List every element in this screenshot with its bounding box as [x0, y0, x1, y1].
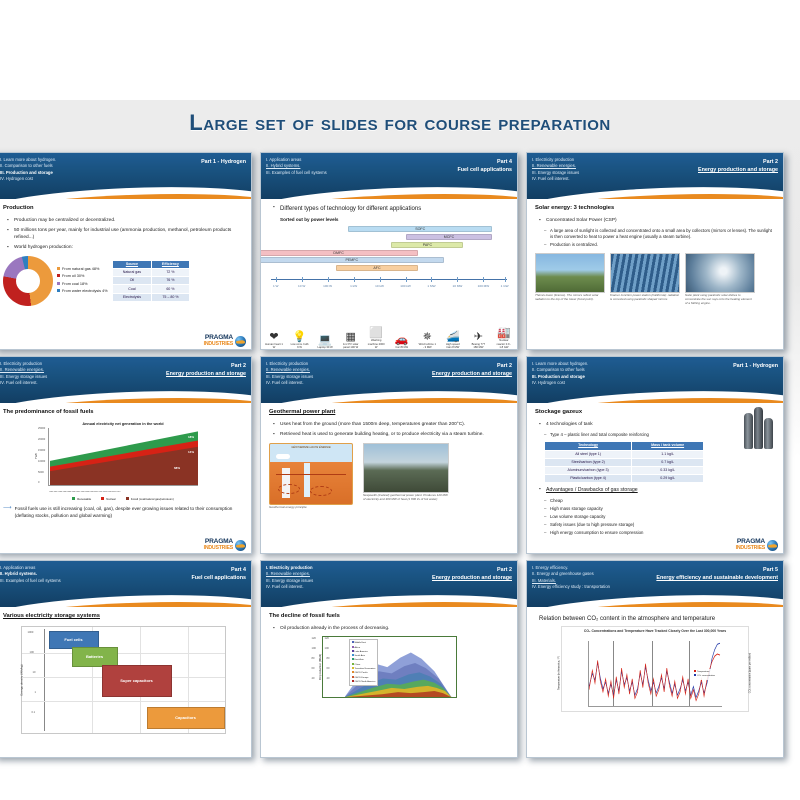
- table-cell: 1.1 kg/L: [632, 450, 704, 458]
- nav-item: II. Renewable energies.: [266, 367, 310, 372]
- part-line-2: Energy efficiency and sustainable develo…: [656, 574, 778, 582]
- table-cell: Aluminum/carbon (type 3): [545, 466, 632, 474]
- device-item: 💻Laptop 30 W: [316, 335, 334, 349]
- legend-label: From coal 18%: [62, 282, 88, 286]
- nav-item: III. Examples of fuel cell systems: [266, 170, 327, 176]
- nav-item-active: III. Production and storage: [532, 374, 585, 379]
- block-label: Capacitors: [175, 715, 196, 720]
- slide-nav: I. Electricity production II. Renewable …: [266, 565, 313, 590]
- sub-bullet-item: Type 4 – plastic liner and total composi…: [544, 432, 775, 438]
- axis-tick-label: 100 MW: [478, 284, 490, 288]
- slide-grid: I. Learn more about hydrogen. II. Compar…: [0, 152, 800, 764]
- y2-axis-label: CO₂ concentration (parts per million): [748, 653, 751, 693]
- y-tick: 25000: [38, 427, 45, 431]
- table-header: Source: [112, 260, 152, 268]
- legend-label: Nuclear: [106, 497, 116, 501]
- nav-item: III. Energy storage issues: [532, 170, 579, 176]
- y-axis-label: Energy density (Wh/kg): [19, 664, 23, 695]
- slide-part-label: Part 4 Fuel cell applications: [191, 566, 246, 582]
- table-cell: Steel/carbon (type 2): [545, 458, 632, 466]
- bar-dmfc: DMFC: [260, 250, 418, 256]
- device-label: Human heart 1 W: [265, 343, 283, 349]
- slide-nav: I. Learn more about hydrogen. II. Compar…: [0, 157, 56, 182]
- table-cell: 0.7 kg/L: [632, 458, 704, 466]
- chart-title: CO₂ Concentrations and Temperature Have …: [562, 627, 748, 634]
- part-line-1: Part 1 - Hydrogen: [733, 362, 778, 370]
- slide-header: I. Electricity production II. Renewable …: [0, 357, 251, 403]
- table-row: Steel/carbon (type 2) 0.7 kg/L: [545, 458, 704, 466]
- nav-item: II. Renewable energies.: [266, 571, 310, 576]
- chart-legend: Renewable Nuclear Fossil (coal/natural g…: [48, 497, 198, 502]
- slide-nav: I. Electricity production II. Renewable …: [532, 157, 579, 182]
- slide-row-2: I. Electricity production II. Renewable …: [0, 356, 800, 560]
- table-cell: 75 – 80 %: [152, 293, 189, 301]
- device-label: Wind turbine 1 - 3 MW: [419, 343, 436, 349]
- table-row: Coal 60 %: [112, 285, 189, 293]
- table-header: Mass / tank volume: [632, 442, 704, 450]
- slide-row-1: I. Learn more about hydrogen. II. Compar…: [0, 152, 800, 356]
- slide-part-label: Part 2 Energy production and storage: [432, 566, 512, 582]
- axis-tick-label: 1 GW: [501, 284, 509, 288]
- slide-body: Production Production may be centralized…: [0, 199, 251, 350]
- photo-caption: Solar plant using parabolic solar dishes…: [685, 294, 755, 306]
- bullet-list: Uses heat from the ground (more than 150…: [273, 422, 509, 439]
- bullet-list: Different types of technology for differ…: [273, 205, 509, 213]
- y-tick: 20000: [38, 438, 45, 442]
- gas-cylinders-image: [744, 407, 773, 449]
- x-tick-row: 1980 1982 1984 1986 1988 1990 1992 1994 …: [49, 491, 198, 494]
- chart-title: Annual electricity net generation in the…: [48, 422, 198, 427]
- pragma-logo: PRAGMA INDUSTRIES: [736, 539, 778, 551]
- part-line-2: Energy production and storage: [432, 370, 512, 378]
- slide-nav: I. Electricity production II. Renewable …: [266, 361, 313, 386]
- legend-label: OECD Pacific: [355, 672, 368, 674]
- photo-block: Kramer Junction power station (Californi…: [610, 253, 680, 306]
- slide-title: The decline of fossil fuels: [269, 613, 509, 621]
- slide-title: Solar energy: 3 technologies: [535, 205, 775, 213]
- sub-bullet-item: A large area of sunlight is collected an…: [544, 228, 775, 240]
- chart-legend: Middle East Africa Latin America South A…: [349, 639, 379, 686]
- advantage-item: High energy consumption to ensure compre…: [544, 530, 775, 536]
- solar-panel-icon: ▦: [342, 332, 360, 343]
- device-icon-row: ❤Human heart 1 W 💡Low cons. bulb 9 W 💻La…: [265, 315, 513, 349]
- y2-tick: 100: [312, 647, 466, 651]
- slide-header: I. Energy efficiency. II. Energy and gre…: [527, 561, 783, 607]
- page-title: Large set of slides for course preparati…: [0, 110, 800, 136]
- chart-legend: Temperature CO₂ concentration: [693, 669, 716, 680]
- device-label: 1m² PV solar panel 100 W: [343, 343, 359, 349]
- bullet-list: 4 technologies of tank: [539, 422, 775, 428]
- y-tick: 15000: [38, 449, 45, 453]
- slide-thumbnail-5[interactable]: I. Electricity production II. Renewable …: [260, 356, 518, 554]
- device-label: Laptop 30 W: [317, 346, 332, 349]
- legend-label: CO₂ concentration: [697, 675, 715, 677]
- laptop-icon: 💻: [316, 335, 334, 346]
- table-header: Efficiency: [152, 260, 189, 268]
- table-cell: 72 %: [152, 268, 189, 276]
- slide-body: The predominance of fossil fuels Annual …: [0, 403, 251, 554]
- device-label: Car 80 kW: [395, 346, 408, 349]
- device-item: 🏭Nuclear reactor 0.9 - 1.8 GW: [495, 328, 513, 349]
- nav-item: IV. Hydrogen cost: [532, 380, 588, 386]
- efficiency-table: Source Efficiency Natural gas 72 % Oil 7…: [112, 260, 190, 302]
- nav-item: III. Energy storage issues: [266, 374, 313, 380]
- bullet-list: Concentrated Solar Power (CSP): [539, 218, 775, 224]
- chart-plot: TWh 25000 20000 15000 10000 5000 0 18% 1…: [48, 428, 198, 486]
- part-line-2: Fuel cell applications: [457, 166, 512, 174]
- slide-header: I. Application areas II. Hybrid systems.…: [0, 561, 251, 607]
- legend-label: From water electrolysis 4%: [62, 289, 108, 293]
- nav-item: III. Materials.: [532, 578, 556, 583]
- car-icon: 🚗: [393, 335, 411, 346]
- slide-nav: I. Application areas II. Hybrid systems.…: [0, 565, 61, 584]
- part-line-1: Part 1 - Hydrogen: [201, 158, 246, 166]
- bullet-item: Oil production already in the process of…: [273, 626, 509, 632]
- hydrogen-production-donut-chart: [3, 256, 53, 306]
- bullet-item: 4 technologies of tank: [539, 422, 775, 428]
- slide-header: I. Application areas II. Hybrid systems.…: [261, 153, 517, 199]
- y-tick: 1000: [28, 631, 34, 635]
- table-cell: 76 %: [152, 277, 189, 285]
- parabolic-trough-photo: [610, 253, 680, 293]
- bullet-list: Production may be centralized or decentr…: [7, 218, 243, 252]
- slide-header: I. Learn more about hydrogen. II. Compar…: [0, 153, 251, 199]
- table-cell: Plastic/carbon (type 4): [545, 475, 632, 483]
- device-label: High speed train 8 MW: [446, 343, 460, 349]
- slide-title: Production: [3, 205, 243, 213]
- nav-item: IV. Fuel cell interest.: [0, 380, 47, 386]
- efficiency-table-wrap: Source Efficiency Natural gas 72 % Oil 7…: [112, 260, 190, 302]
- slide-nav: I. Energy efficiency. II. Energy and gre…: [532, 565, 610, 590]
- bar-label: MCFC: [444, 235, 454, 240]
- slide-body: Relation between CO₂ content in the atmo…: [527, 607, 783, 758]
- legend-label: Temperature: [697, 671, 709, 673]
- y2-tick: 120: [312, 637, 466, 641]
- bar-label: AFC: [373, 266, 380, 271]
- y-axis-label: Temperature (in Antarctica, °F): [557, 656, 560, 690]
- legend-label: Fossil (coal/natural gas/petroleum): [131, 497, 174, 501]
- nav-item: III. Energy storage issues: [266, 578, 313, 584]
- legend-label: Africa: [355, 647, 361, 649]
- axis-tick-label: 1 W: [273, 284, 279, 288]
- block-label: Fuel cells: [64, 637, 82, 642]
- table-cell: 0.29 kg/L: [632, 475, 704, 483]
- bar-afc: AFC: [336, 265, 418, 271]
- part-line-2: Energy production and storage: [432, 574, 512, 582]
- diagram-title: GÉOTHERMIE HAUTE ÉNERGIE: [270, 446, 352, 449]
- part-line-2: Energy production and storage: [698, 166, 778, 174]
- block-label: Batteries: [86, 654, 103, 659]
- axis-tick-label: 1 kW: [350, 284, 357, 288]
- device-item: 💡Low cons. bulb 9 W: [291, 332, 309, 349]
- part-line-2: Energy production and storage: [166, 370, 246, 378]
- solar-tower-photo: [535, 253, 605, 293]
- part-line-1: Part 2: [432, 566, 512, 574]
- legend-label: Transition Economies: [355, 668, 376, 670]
- table-cell: 60 %: [152, 285, 189, 293]
- legend-label: From oil 30%: [62, 274, 84, 278]
- diagram-caption: Geothermal energy principle: [269, 506, 353, 510]
- bullet-item: 50 millions tons per year, mainly for in…: [7, 228, 243, 241]
- pragma-logo: PRAGMA INDUSTRIES: [204, 539, 246, 551]
- slide-title: Geothermal power plant: [269, 409, 509, 417]
- bullet-list: Oil production already in the process of…: [273, 626, 509, 632]
- sub-bullet-list: Type 4 – plastic liner and total composi…: [544, 432, 775, 438]
- slide-thumbnail-1[interactable]: I. Learn more about hydrogen. II. Compar…: [0, 152, 252, 350]
- device-item: 🚄High speed train 8 MW: [444, 332, 462, 349]
- photo-caption: Nesjavellir (Iceland) geothermal power p…: [363, 494, 449, 502]
- nav-item: IV. Hydrogen cost: [0, 176, 56, 182]
- legend-label: OECD North America: [355, 681, 376, 683]
- slide-title: Different types of technology for differ…: [273, 205, 509, 213]
- slide-part-label: Part 4 Fuel cell applications: [457, 158, 512, 174]
- data-label-fossil: 68%: [174, 466, 180, 470]
- advantage-item: High mass storage capacity: [544, 506, 775, 512]
- bar-sofc: SOFC: [348, 226, 492, 232]
- heart-icon: ❤: [265, 332, 283, 343]
- arrow-icon: ⟶: [3, 505, 12, 519]
- table-cell: Coal: [112, 285, 152, 293]
- table-cell: Natural gas: [112, 268, 152, 276]
- table-cell: All steel (type 1): [545, 450, 632, 458]
- device-item: ✈Boeing 777 180 MW: [469, 332, 487, 349]
- slide-part-label: Part 2 Energy production and storage: [166, 362, 246, 378]
- part-line-1: Part 2: [698, 158, 778, 166]
- fuel-cell-power-bar-chart: SOFC MCFC PAFC DMFC PEMFC AFC 1 W 10 W 1…: [269, 226, 509, 272]
- nav-item-active: II. Hybrid systems.: [266, 163, 300, 168]
- slide-part-label: Part 1 - Hydrogen: [201, 158, 246, 166]
- legend-label: From natural gas 48%: [62, 267, 99, 271]
- slide-thumbnail-6[interactable]: I. Learn more about hydrogen. II. Compar…: [526, 356, 784, 554]
- y-tick: 0: [38, 481, 39, 485]
- electricity-generation-area-chart: Annual electricity net generation in the…: [48, 422, 198, 496]
- slide-part-label: Part 5 Energy efficiency and sustainable…: [656, 566, 778, 582]
- slide-nav: I. Application areas II. Hybrid systems.…: [266, 157, 327, 176]
- wind-turbine-icon: ✵: [418, 332, 436, 343]
- slide-thumbnail-4[interactable]: I. Electricity production II. Renewable …: [0, 356, 252, 554]
- legend-label: OECD Europe: [355, 677, 369, 679]
- table-row: All steel (type 1) 1.1 kg/L: [545, 450, 704, 458]
- slide-thumbnail-8[interactable]: I. Electricity production II. Renewable …: [260, 560, 518, 758]
- nav-item: III. Energy storage issues: [0, 374, 47, 380]
- slide-thumbnail-7[interactable]: I. Application areas II. Hybrid systems.…: [0, 560, 252, 758]
- slide-body: Various electricity storage systems 1000…: [0, 607, 251, 758]
- device-item: ⬜Washing machine 2000 W: [367, 328, 385, 349]
- airplane-icon: ✈: [469, 332, 487, 343]
- nuclear-plant-icon: 🏭: [495, 328, 513, 339]
- part-line-1: Part 2: [432, 362, 512, 370]
- part-line-1: Part 4: [191, 566, 246, 574]
- y-tick: 10000: [38, 460, 45, 464]
- table-cell: Oil: [112, 277, 152, 285]
- slide-part-label: Part 2 Energy production and storage: [432, 362, 512, 378]
- block-label: Super capacitors: [120, 678, 152, 683]
- table-row: Plastic/carbon (type 4) 0.29 kg/L: [545, 475, 704, 483]
- slide-header: I. Electricity production II. Renewable …: [527, 153, 783, 199]
- photo-caption: Thémis tower (France). The mirrors refle…: [535, 294, 605, 302]
- brand-subtitle: INDUSTRIES: [204, 342, 233, 347]
- bar-label: PAFC: [423, 243, 432, 248]
- nav-item: IV. Fuel cell interest.: [266, 584, 313, 590]
- nav-item: II. Renewable energies.: [532, 163, 576, 168]
- data-label-nuclear: 14%: [188, 450, 194, 454]
- slide-header: I. Electricity production II. Renewable …: [261, 561, 517, 607]
- advantage-item: Cheap: [544, 498, 775, 504]
- bullet-item: Concentrated Solar Power (CSP): [539, 218, 775, 224]
- sub-bullet-item: Production is centralized.: [544, 242, 775, 248]
- washing-machine-icon: ⬜: [367, 328, 385, 339]
- y-axis-label: TWh: [34, 453, 38, 459]
- advantage-item: Safety issues (due to high pressure stor…: [544, 522, 775, 528]
- slide-part-label: Part 2 Energy production and storage: [698, 158, 778, 174]
- table-cell: Electrolysis: [112, 293, 152, 301]
- diagram-block: GÉOTHERMIE HAUTE ÉNERGIE Geothermal ener…: [269, 443, 353, 510]
- slide-body: The decline of fossil fuels Oil producti…: [261, 607, 517, 758]
- y-tick: 1: [35, 691, 36, 695]
- oil-production-area-chart: Oil production (Mb/d) 120 100 80 60 40 1…: [322, 636, 457, 698]
- pragma-logo: PRAGMA INDUSTRIES: [204, 335, 246, 347]
- bullet-item: Uses heat from the ground (more than 150…: [273, 422, 509, 428]
- slide-thumbnail-2[interactable]: I. Application areas II. Hybrid systems.…: [260, 152, 518, 350]
- table-row: Natural gas 72 %: [112, 268, 189, 276]
- legend-label: Renewable: [77, 497, 91, 501]
- tank-table-wrap: Technology Mass / tank volume All steel …: [544, 441, 704, 483]
- logo-sphere-icon: [235, 336, 246, 347]
- bar-mcfc: MCFC: [406, 234, 492, 240]
- advantage-items: Cheap High mass storage capacity Low vol…: [544, 498, 775, 535]
- bar-label: DMFC: [333, 251, 343, 256]
- axis-tick-label: 100 kW: [400, 284, 411, 288]
- axis-tick-label: 1 MW: [427, 284, 435, 288]
- legend-label: South Asia: [355, 655, 365, 657]
- slide-body: Different types of technology for differ…: [261, 199, 517, 350]
- y2-tick: 80: [312, 657, 464, 661]
- block-batteries: Batteries: [72, 647, 118, 667]
- part-line-2: Fuel cell applications: [191, 574, 246, 582]
- train-icon: 🚄: [444, 332, 462, 343]
- device-label: Nuclear reactor 0.9 - 1.8 GW: [497, 339, 512, 348]
- advantages-list: Advantages / Drawbacks of gas storage: [539, 487, 775, 494]
- table-header: Technology: [545, 442, 632, 450]
- brand-subtitle: INDUSTRIES: [204, 546, 233, 551]
- table-row: Electrolysis 75 – 80 %: [112, 293, 189, 301]
- device-label: Boeing 777 180 MW: [472, 343, 486, 349]
- device-item: ❤Human heart 1 W: [265, 332, 283, 349]
- slide-nav: I. Electricity production II. Renewable …: [0, 361, 47, 386]
- slide-part-label: Part 1 - Hydrogen: [733, 362, 778, 370]
- axis-tick-label: 10 kW: [375, 284, 384, 288]
- stirling-dish-photo: [685, 253, 755, 293]
- advantage-item: Low volume storage capacity: [544, 514, 775, 520]
- part-line-1: Part 2: [166, 362, 246, 370]
- photo-block: Thémis tower (France). The mirrors refle…: [535, 253, 605, 306]
- device-item: 🚗Car 80 kW: [393, 335, 411, 349]
- axis-tick-label: 100 W: [323, 284, 332, 288]
- bar-pafc: PAFC: [391, 242, 463, 248]
- table-row: Oil 76 %: [112, 277, 189, 285]
- table-cell: 0.33 kg/L: [632, 466, 704, 474]
- geothermal-diagram: GÉOTHERMIE HAUTE ÉNERGIE: [269, 443, 353, 505]
- nav-item: IV. Fuel cell interest.: [532, 176, 579, 182]
- nav-item: IV. Energy efficiency study : transporta…: [532, 584, 610, 590]
- slide-title: Various electricity storage systems: [3, 613, 243, 621]
- slide-row-3: I. Application areas II. Hybrid systems.…: [0, 560, 800, 764]
- legend-label: East Asia: [355, 659, 364, 661]
- y-tick: 5000: [38, 471, 44, 475]
- y-tick: 0.1: [32, 711, 36, 715]
- slide-nav: I. Learn more about hydrogen. II. Compar…: [532, 361, 588, 386]
- block-capacitors: Capacitors: [147, 707, 225, 729]
- brand-subtitle: INDUSTRIES: [736, 546, 765, 551]
- device-label: Washing machine 2000 W: [368, 339, 385, 348]
- bullet-item: World hydrogen production:: [7, 245, 243, 251]
- sub-bullet-list: A large area of sunlight is collected an…: [544, 228, 775, 247]
- slide-header: I. Learn more about hydrogen. II. Compar…: [527, 357, 783, 403]
- table-row: Aluminum/carbon (type 3) 0.33 kg/L: [545, 466, 704, 474]
- bar-label: SOFC: [415, 227, 425, 232]
- bullet-item: Production may be centralized or decentr…: [7, 218, 243, 224]
- device-item: ✵Wind turbine 1 - 3 MW: [418, 332, 436, 349]
- device-item: ▦1m² PV solar panel 100 W: [342, 332, 360, 349]
- donut-legend: From natural gas 48% From oil 30% From c…: [57, 266, 108, 295]
- nav-item-active: II. Hybrid systems.: [0, 571, 37, 576]
- nav-item: IV. Fuel cell interest.: [266, 380, 313, 386]
- photo-caption: Kramer Junction power station (Californi…: [610, 294, 680, 302]
- bar-label: PEMFC: [346, 258, 359, 263]
- legend-label: China: [355, 664, 361, 666]
- data-label-renewable: 18%: [188, 435, 194, 439]
- logo-sphere-icon: [767, 540, 778, 551]
- co2-temperature-line-chart: CO₂ Concentrations and Temperature Have …: [561, 626, 749, 712]
- nav-item-active: I. Electricity production: [266, 565, 313, 570]
- axis-tick-label: 10 MW: [453, 284, 463, 288]
- lightbulb-icon: 💡: [291, 332, 309, 343]
- part-line-1: Part 5: [656, 566, 778, 574]
- tank-technology-table: Technology Mass / tank volume All steel …: [544, 441, 704, 483]
- nav-item: II. Renewable energies.: [0, 367, 44, 372]
- y-tick: 10: [33, 671, 36, 675]
- bullet-item: Retrieved heat is used to generate build…: [273, 432, 509, 438]
- slide-header: I. Electricity production II. Renewable …: [261, 357, 517, 403]
- section-title: Advantages / Drawbacks of gas storage: [539, 487, 775, 494]
- power-axis: 1 W 10 W 100 W 1 kW 10 kW 100 kW 1 MW 10…: [271, 279, 507, 280]
- page-root: Large set of slides for course preparati…: [0, 0, 800, 800]
- storage-systems-ragone-chart: 1000 100 10 1 0.1 Energy density (Wh/kg)…: [21, 626, 226, 734]
- nav-item: III. Examples of fuel cell systems: [0, 578, 61, 584]
- slide-body: Geothermal power plant Uses heat from th…: [261, 403, 517, 554]
- slide-body: Solar energy: 3 technologies Concentrate…: [527, 199, 783, 350]
- slide-title: The predominance of fossil fuels: [3, 409, 243, 417]
- logo-sphere-icon: [235, 540, 246, 551]
- bar-pemfc: PEMFC: [260, 257, 444, 263]
- slide-subtitle: Sorted out by power levels: [280, 217, 509, 223]
- slide-thumbnail-9[interactable]: I. Energy efficiency. II. Energy and gre…: [526, 560, 784, 758]
- slide-body: Stockage gazeux 4 technologies of tank T…: [527, 403, 783, 554]
- conclusion-text: Fossil fuels use is still increasing (co…: [15, 505, 243, 519]
- legend-label: Middle East: [355, 642, 366, 644]
- photo-block: Solar plant using parabolic solar dishes…: [685, 253, 755, 306]
- slide-title: Stockage gazeux: [535, 409, 775, 417]
- legend-label: Latin America: [355, 651, 368, 653]
- geothermal-plant-photo: [363, 443, 449, 493]
- device-label: Low cons. bulb 9 W: [291, 343, 309, 349]
- axis-tick-label: 10 W: [298, 284, 305, 288]
- slide-thumbnail-3[interactable]: I. Electricity production II. Renewable …: [526, 152, 784, 350]
- photo-block: Nesjavellir (Iceland) geothermal power p…: [363, 443, 449, 510]
- part-line-1: Part 4: [457, 158, 512, 166]
- block-super-capacitors: Super capacitors: [102, 665, 172, 697]
- slide-title: Relation between CO₂ content in the atmo…: [539, 615, 775, 623]
